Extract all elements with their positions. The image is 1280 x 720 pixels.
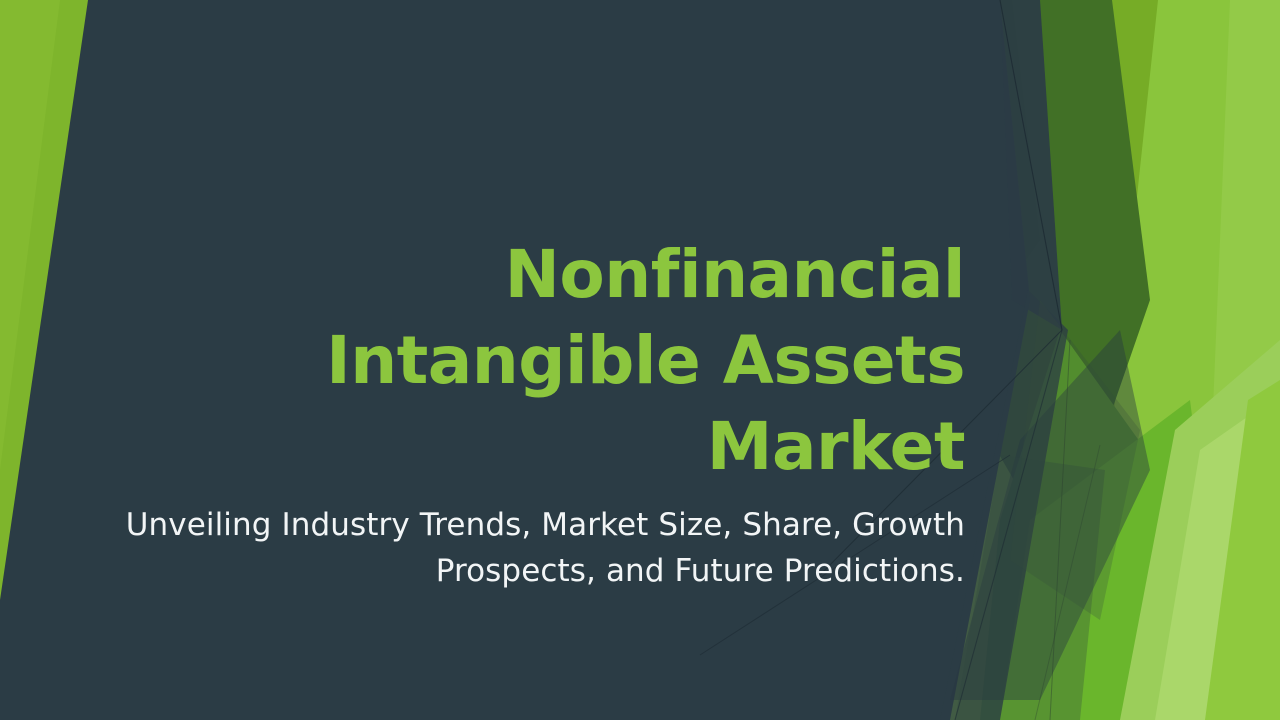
page-title: Nonfinancial Intangible Assets Market: [120, 232, 965, 489]
slide-subtitle: Unveiling Industry Trends, Market Size, …: [120, 503, 965, 594]
title-slide: Nonfinancial Intangible Assets Market Un…: [0, 0, 1280, 720]
slide-text-block: Nonfinancial Intangible Assets Market Un…: [120, 232, 965, 594]
